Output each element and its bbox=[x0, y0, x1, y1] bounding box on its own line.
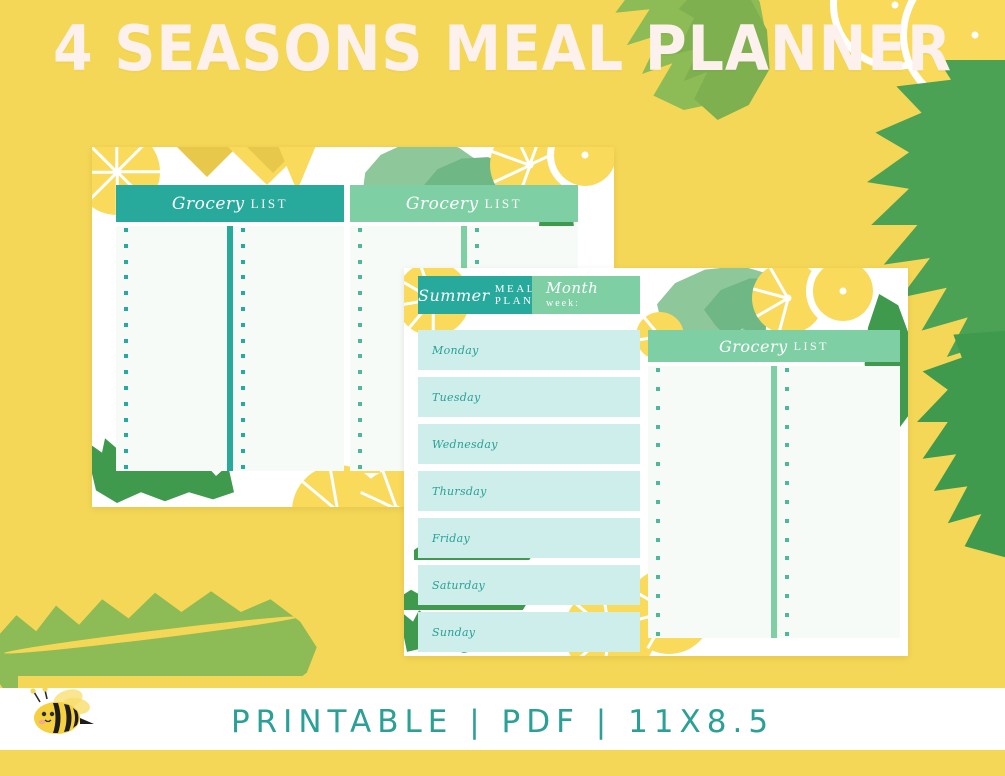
list-bullet bbox=[241, 354, 245, 358]
list-bullet bbox=[358, 354, 362, 358]
list-bullet bbox=[241, 339, 245, 343]
list-bullet bbox=[358, 465, 362, 469]
list-bullet bbox=[358, 370, 362, 374]
lemon-wedge-icon bbox=[177, 147, 237, 177]
header-caps-text: LIST bbox=[485, 196, 522, 212]
day-row-monday[interactable]: Monday bbox=[418, 330, 640, 370]
list-bullet bbox=[358, 291, 362, 295]
list-bullet bbox=[241, 465, 245, 469]
list-bullet bbox=[656, 462, 660, 466]
grocery-column[interactable] bbox=[233, 226, 344, 471]
list-bullet bbox=[241, 370, 245, 374]
list-bullet bbox=[656, 613, 660, 617]
day-row-sunday[interactable]: Sunday bbox=[418, 612, 640, 652]
list-bullet bbox=[656, 481, 660, 485]
list-bullet bbox=[475, 228, 479, 232]
list-bullet bbox=[241, 402, 245, 406]
list-bullet bbox=[124, 260, 128, 264]
month-script-text: Month bbox=[546, 281, 598, 296]
list-bullet bbox=[241, 260, 245, 264]
day-label: Sunday bbox=[418, 626, 475, 639]
bee-icon bbox=[24, 686, 100, 740]
day-label: Wednesday bbox=[418, 438, 498, 451]
list-bullet bbox=[241, 433, 245, 437]
list-bullet bbox=[358, 307, 362, 311]
list-bullet bbox=[124, 370, 128, 374]
list-bullet bbox=[241, 244, 245, 248]
list-bullet bbox=[358, 418, 362, 422]
list-bullet bbox=[241, 449, 245, 453]
list-bullet bbox=[358, 449, 362, 453]
list-bullet bbox=[656, 443, 660, 447]
plan-script-text: Summer bbox=[418, 286, 490, 305]
list-bullet bbox=[785, 443, 789, 447]
list-bullet bbox=[241, 418, 245, 422]
day-row-saturday[interactable]: Saturday bbox=[418, 565, 640, 605]
header-script-text: Grocery bbox=[172, 194, 245, 214]
day-label: Saturday bbox=[418, 579, 485, 592]
list-bullet bbox=[358, 386, 362, 390]
list-bullet bbox=[124, 402, 128, 406]
grocery-list-front[interactable] bbox=[648, 366, 900, 638]
list-bullet bbox=[656, 575, 660, 579]
grocery-list-header-left[interactable]: Grocery LIST bbox=[116, 185, 344, 222]
list-bullet bbox=[785, 387, 789, 391]
list-bullet bbox=[656, 500, 660, 504]
list-bullet bbox=[124, 449, 128, 453]
list-bullet bbox=[785, 500, 789, 504]
list-bullet bbox=[241, 386, 245, 390]
list-bullet bbox=[124, 433, 128, 437]
list-bullet bbox=[241, 307, 245, 311]
day-row-tuesday[interactable]: Tuesday bbox=[418, 377, 640, 417]
list-bullet bbox=[358, 433, 362, 437]
header-caps-text: LIST bbox=[251, 196, 288, 212]
list-bullet bbox=[656, 632, 660, 636]
grocery-list-header-front[interactable]: Grocery LIST bbox=[648, 330, 900, 362]
list-bullet bbox=[124, 465, 128, 469]
list-bullet bbox=[785, 462, 789, 466]
footer-top-strip bbox=[18, 676, 987, 688]
list-bullet bbox=[124, 339, 128, 343]
list-bullet bbox=[124, 354, 128, 358]
day-row-wednesday[interactable]: Wednesday bbox=[418, 424, 640, 464]
list-bullet bbox=[124, 307, 128, 311]
list-bullet bbox=[241, 323, 245, 327]
day-label: Tuesday bbox=[418, 391, 481, 404]
grocery-column[interactable] bbox=[648, 366, 771, 638]
list-bullet bbox=[124, 386, 128, 390]
list-bullet bbox=[785, 632, 789, 636]
header-script-text: Grocery bbox=[406, 194, 479, 214]
header-caps-text: LIST bbox=[794, 339, 829, 354]
week-label: week: bbox=[546, 298, 580, 309]
list-bullet bbox=[785, 594, 789, 598]
list-bullet bbox=[785, 538, 789, 542]
summer-meal-plan-header[interactable]: Summer MEAL PLAN bbox=[418, 276, 546, 314]
poster-canvas: 4 SEASONS MEAL PLANNER bbox=[0, 0, 1005, 776]
list-bullet bbox=[241, 275, 245, 279]
list-bullet bbox=[124, 275, 128, 279]
list-bullet bbox=[785, 425, 789, 429]
page-title: 4 SEASONS MEAL PLANNER bbox=[40, 18, 965, 80]
grocery-list-header-right[interactable]: Grocery LIST bbox=[350, 185, 578, 222]
list-bullet bbox=[656, 406, 660, 410]
list-bullet bbox=[124, 291, 128, 295]
list-bullet bbox=[475, 260, 479, 264]
list-bullet bbox=[785, 613, 789, 617]
footer-text: PRINTABLE | PDF | 11X8.5 bbox=[0, 704, 1005, 740]
day-row-thursday[interactable]: Thursday bbox=[418, 471, 640, 511]
list-bullet bbox=[475, 244, 479, 248]
list-bullet bbox=[358, 260, 362, 264]
summer-meal-plan-card[interactable]: Summer MEAL PLAN Month week: MondayTuesd… bbox=[404, 268, 908, 656]
list-bullet bbox=[124, 418, 128, 422]
list-bullet bbox=[656, 594, 660, 598]
list-bullet bbox=[358, 402, 362, 406]
list-bullet bbox=[241, 291, 245, 295]
list-bullet bbox=[358, 244, 362, 248]
leaf-vein bbox=[4, 613, 300, 657]
grocery-list-left[interactable] bbox=[116, 226, 344, 471]
list-bullet bbox=[785, 406, 789, 410]
day-label: Thursday bbox=[418, 485, 487, 498]
list-bullet bbox=[656, 519, 660, 523]
grocery-column[interactable] bbox=[777, 366, 900, 638]
list-bullet bbox=[241, 228, 245, 232]
list-bullet bbox=[358, 228, 362, 232]
list-bullet bbox=[785, 519, 789, 523]
list-bullet bbox=[656, 387, 660, 391]
list-bullet bbox=[785, 368, 789, 372]
footer-bottom-strip bbox=[18, 750, 987, 762]
header-script-text: Grocery bbox=[719, 337, 788, 356]
list-bullet bbox=[785, 556, 789, 560]
list-bullet bbox=[124, 323, 128, 327]
list-bullet bbox=[785, 575, 789, 579]
list-bullet bbox=[656, 425, 660, 429]
day-label: Friday bbox=[418, 532, 470, 545]
list-bullet bbox=[124, 244, 128, 248]
list-bullet bbox=[656, 538, 660, 542]
list-bullet bbox=[656, 368, 660, 372]
grocery-column[interactable] bbox=[116, 226, 227, 471]
day-label: Monday bbox=[418, 344, 479, 357]
list-bullet bbox=[656, 556, 660, 560]
list-bullet bbox=[358, 339, 362, 343]
list-bullet bbox=[358, 323, 362, 327]
list-bullet bbox=[124, 228, 128, 232]
list-bullet bbox=[785, 481, 789, 485]
day-row-friday[interactable]: Friday bbox=[418, 518, 640, 558]
list-bullet bbox=[358, 275, 362, 279]
month-week-box[interactable]: Month week: bbox=[532, 276, 640, 314]
